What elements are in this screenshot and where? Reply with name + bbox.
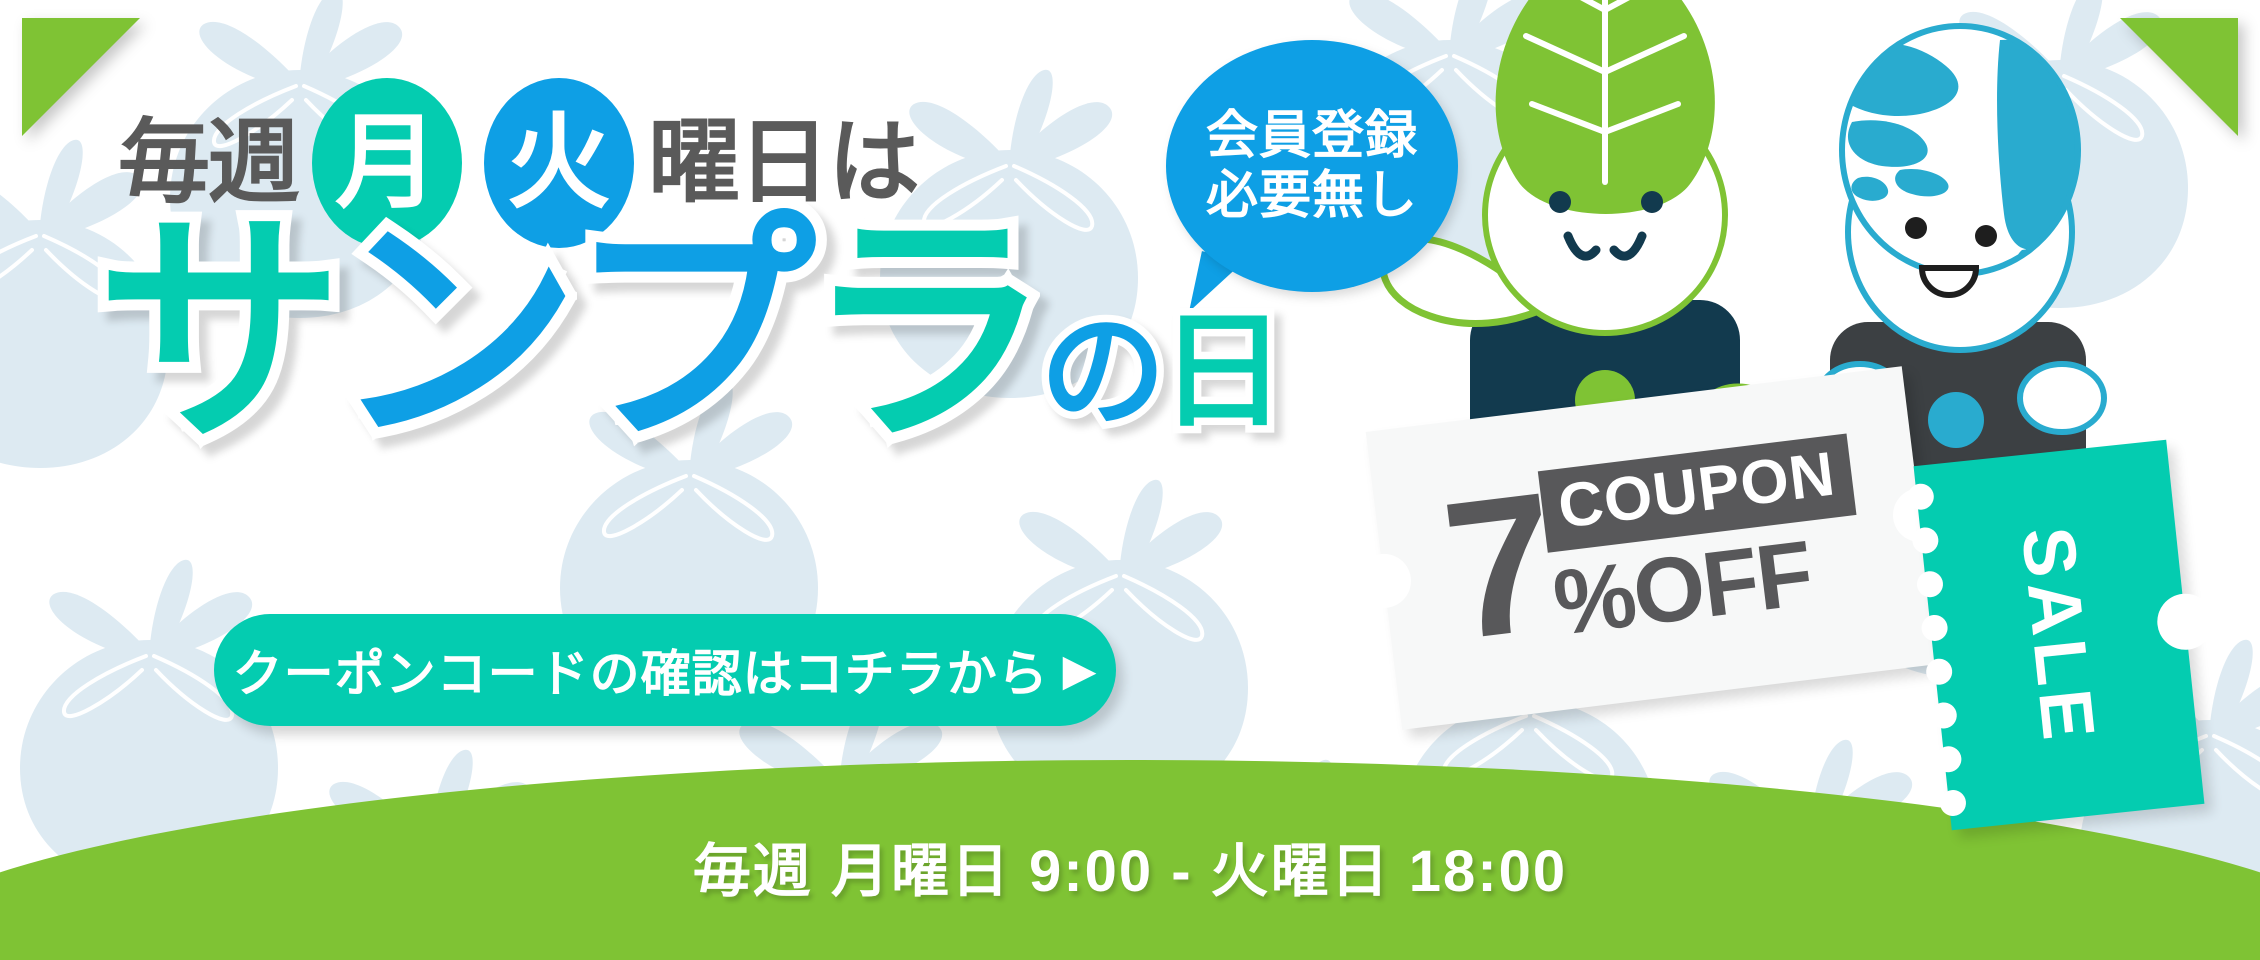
title-char-pu: プ	[568, 218, 804, 446]
sale-label: SALE	[2005, 522, 2112, 747]
title-char-n: ン	[332, 218, 568, 446]
speech-bubble: 会員登録 必要無し	[1166, 40, 1458, 292]
title-char-sa: サ	[96, 218, 332, 446]
coupon-code-cta-button[interactable]: クーポンコードの確認はコチラから ▶	[214, 614, 1116, 726]
play-triangle-icon: ▶	[1063, 645, 1098, 696]
bubble-line-1: 会員登録	[1206, 106, 1418, 166]
page-title: サ ン プ ラ の 日	[96, 218, 1280, 446]
title-char-hi: 日	[1160, 314, 1280, 430]
title-char-ra: ラ	[804, 218, 1040, 446]
title-char-no: の	[1040, 314, 1160, 430]
cta-label: クーポンコードの確認はコチラから	[233, 634, 1049, 706]
promo-banner: 7 COUPON %OFF SALE 毎週 月 火 曜日は 会員登録 必要無し …	[0, 0, 2260, 960]
footer-schedule-text: 毎週 月曜日 9:00 - 火曜日 18:00	[0, 824, 2260, 908]
sale-ticket: SALE	[1914, 440, 2205, 831]
bubble-line-2: 必要無し	[1206, 166, 1418, 226]
